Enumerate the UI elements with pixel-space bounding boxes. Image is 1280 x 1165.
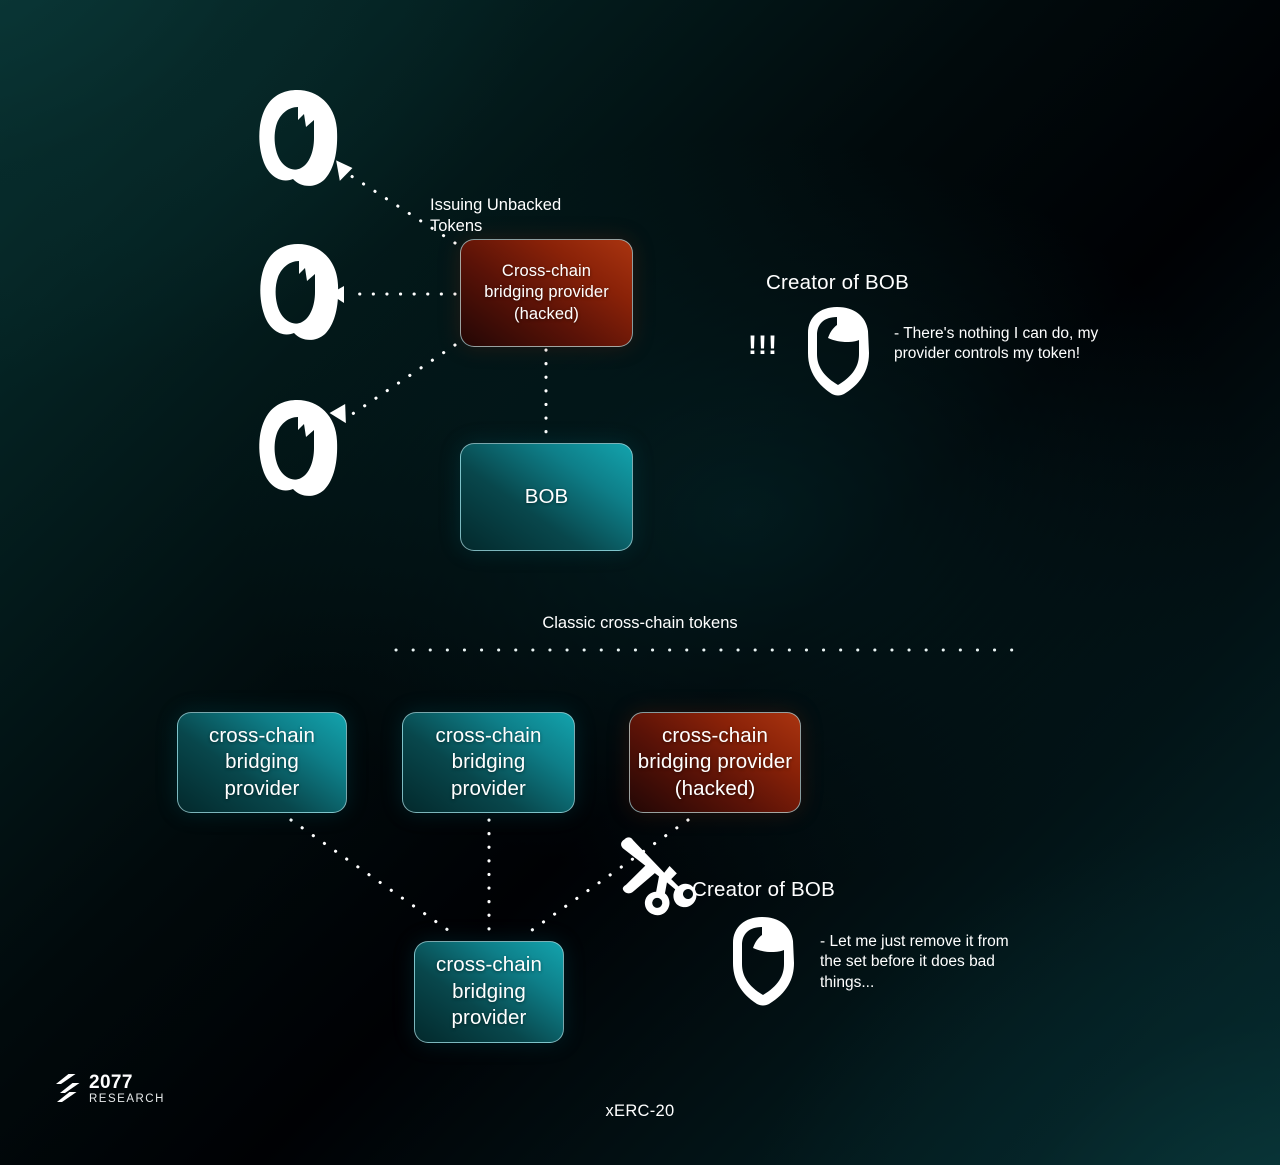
brand-name: 2077 [89,1073,165,1092]
scissors-icon [610,824,700,923]
figure-caption: xERC-20 [0,1102,1280,1121]
figure-layer [0,0,1280,1165]
hooded-hacker-3-icon [259,400,337,496]
creator-avatar-bottom-icon [733,917,794,1006]
creator-avatar-top-icon [808,307,869,396]
diagram-canvas: Issuing Unbacked Tokens Cross-chain brid… [0,0,1280,1165]
hooded-hacker-1-icon [259,90,337,186]
three-slashes-icon [56,1074,80,1104]
brand-logo: 2077 RESEARCH [56,1073,165,1106]
brand-wordmark: 2077 RESEARCH [89,1073,165,1106]
hooded-hacker-2-icon [260,244,338,340]
